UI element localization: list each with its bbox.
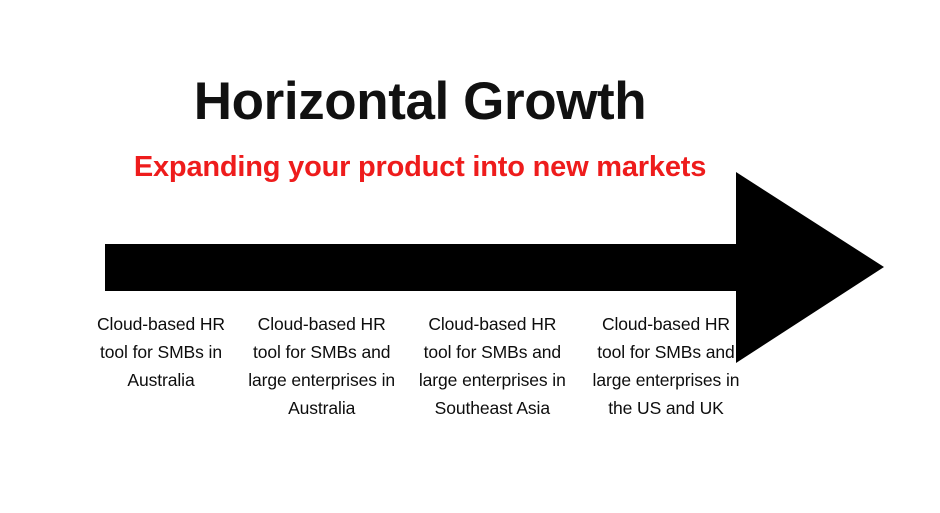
stage-caption-2: Cloud-based HR tool for SMBs and large e… [246, 310, 398, 422]
stage-caption-row: Cloud-based HR tool for SMBs in Australi… [95, 310, 745, 422]
page-subtitle: Expanding your product into new markets [60, 130, 780, 183]
stage-caption-4: Cloud-based HR tool for SMBs and large e… [587, 310, 745, 422]
stage-caption-1: Cloud-based HR tool for SMBs in Australi… [95, 310, 227, 394]
heading-block: Horizontal Growth Expanding your product… [60, 74, 780, 183]
stage-caption-3: Cloud-based HR tool for SMBs and large e… [416, 310, 568, 422]
slide-canvas: Horizontal Growth Expanding your product… [0, 0, 940, 513]
page-title: Horizontal Growth [60, 74, 780, 130]
